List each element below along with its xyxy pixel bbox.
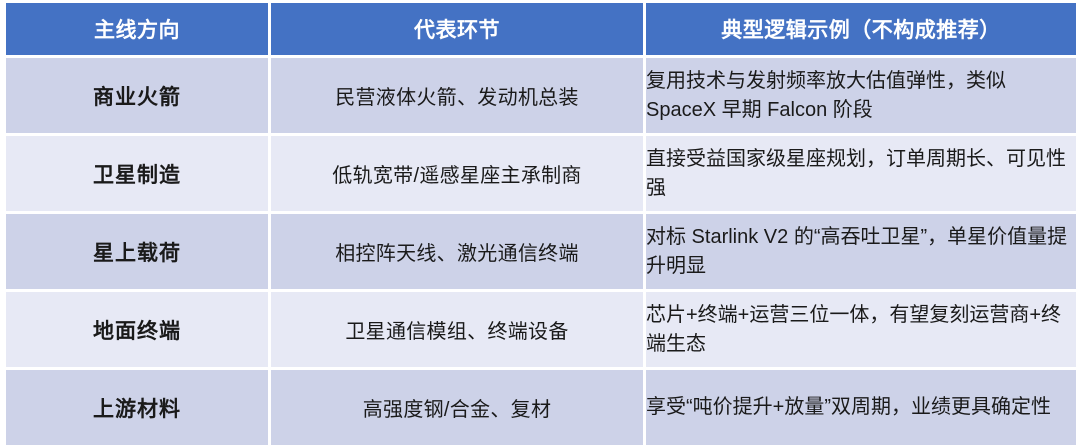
cell-logic-text: 享受“吨价提升+放量”双周期，业绩更具确定性: [646, 393, 1076, 422]
table-row: 商业火箭 民营液体火箭、发动机总装 复用技术与发射频率放大估值弹性，类似 Spa…: [6, 58, 1076, 133]
table-row: 星上载荷 相控阵天线、激光通信终端 对标 Starlink V2 的“高吞吐卫星…: [6, 214, 1076, 289]
table-body: 商业火箭 民营液体火箭、发动机总装 复用技术与发射频率放大估值弹性，类似 Spa…: [6, 58, 1076, 445]
cell-logic: 芯片+终端+运营三位一体，有望复刻运营商+终端生态: [646, 292, 1076, 367]
table-row: 卫星制造 低轨宽带/遥感星座主承制商 直接受益国家级星座规划，订单周期长、可见性…: [6, 136, 1076, 211]
cell-link: 卫星通信模组、终端设备: [271, 292, 643, 367]
cell-logic-text: 复用技术与发射频率放大估值弹性，类似 SpaceX 早期 Falcon 阶段: [646, 67, 1076, 125]
cell-direction: 星上载荷: [6, 214, 268, 289]
cell-logic-text: 芯片+终端+运营三位一体，有望复刻运营商+终端生态: [646, 301, 1076, 359]
cell-link: 相控阵天线、激光通信终端: [271, 214, 643, 289]
table-row: 地面终端 卫星通信模组、终端设备 芯片+终端+运营三位一体，有望复刻运营商+终端…: [6, 292, 1076, 367]
cell-logic-text: 直接受益国家级星座规划，订单周期长、可见性强: [646, 145, 1076, 203]
cell-logic: 享受“吨价提升+放量”双周期，业绩更具确定性: [646, 370, 1076, 445]
table-container: 主线方向 代表环节 典型逻辑示例（不构成推荐） 商业火箭 民营液体火箭、发动机总…: [0, 0, 1080, 438]
industry-chain-table: 主线方向 代表环节 典型逻辑示例（不构成推荐） 商业火箭 民营液体火箭、发动机总…: [3, 0, 1079, 448]
cell-direction: 卫星制造: [6, 136, 268, 211]
cell-direction: 上游材料: [6, 370, 268, 445]
column-header-direction: 主线方向: [6, 3, 268, 55]
table-row: 上游材料 高强度钢/合金、复材 享受“吨价提升+放量”双周期，业绩更具确定性: [6, 370, 1076, 445]
cell-logic: 对标 Starlink V2 的“高吞吐卫星”，单星价值量提升明显: [646, 214, 1076, 289]
cell-logic: 直接受益国家级星座规划，订单周期长、可见性强: [646, 136, 1076, 211]
cell-link: 低轨宽带/遥感星座主承制商: [271, 136, 643, 211]
cell-link: 民营液体火箭、发动机总装: [271, 58, 643, 133]
cell-logic: 复用技术与发射频率放大估值弹性，类似 SpaceX 早期 Falcon 阶段: [646, 58, 1076, 133]
cell-link: 高强度钢/合金、复材: [271, 370, 643, 445]
header-row: 主线方向 代表环节 典型逻辑示例（不构成推荐）: [6, 3, 1076, 55]
table-header: 主线方向 代表环节 典型逻辑示例（不构成推荐）: [6, 3, 1076, 55]
column-header-link: 代表环节: [271, 3, 643, 55]
cell-direction: 地面终端: [6, 292, 268, 367]
cell-logic-text: 对标 Starlink V2 的“高吞吐卫星”，单星价值量提升明显: [646, 223, 1076, 281]
column-header-logic: 典型逻辑示例（不构成推荐）: [646, 3, 1076, 55]
cell-direction: 商业火箭: [6, 58, 268, 133]
